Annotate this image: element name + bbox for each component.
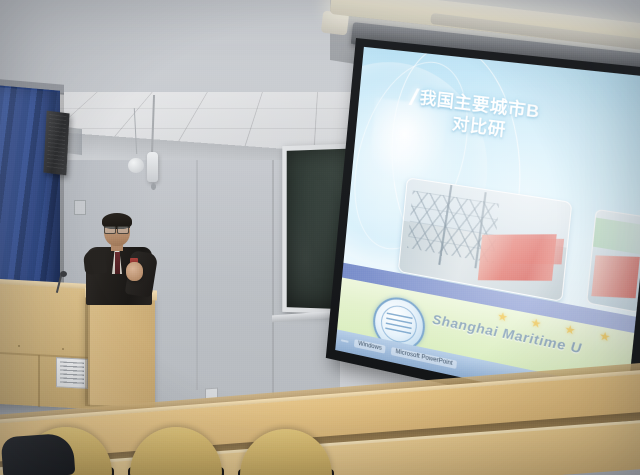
- seal-inner-text-lines: [385, 312, 412, 335]
- pendant-drop: [151, 183, 156, 190]
- backpack[interactable]: [1, 433, 76, 475]
- photo-secondary-bus: [591, 256, 640, 299]
- microphone-icon: [60, 271, 67, 277]
- pendant-globe: [128, 158, 144, 173]
- presenter: [84, 214, 162, 304]
- ceiling-sensor: [147, 152, 158, 182]
- glasses-lens-right: [117, 226, 129, 234]
- taskbar-start-button[interactable]: [341, 340, 349, 344]
- desk-ventilation-grille: [56, 357, 88, 389]
- taskbar-item-windows[interactable]: Windows: [354, 339, 386, 354]
- glasses-lens-left: [104, 226, 116, 234]
- vent-louvers: [60, 361, 84, 384]
- presenter-hand: [126, 262, 143, 281]
- presenter-left-shoulder: [83, 249, 107, 275]
- wall-seam: [272, 140, 274, 395]
- wall-switch-plate[interactable]: [74, 200, 86, 215]
- projected-slide: 我国主要城市B 对比研 ★ ★ ★ ★ ★: [335, 47, 640, 413]
- presenter-necktie: [115, 252, 120, 274]
- photo-greenery: [593, 217, 640, 255]
- lectern: [88, 295, 155, 408]
- loudspeaker-grille: [47, 114, 67, 172]
- slide-content: 我国主要城市B 对比研 ★ ★ ★ ★ ★: [335, 47, 640, 413]
- lectern-left-edge: [85, 292, 90, 406]
- desk-panel-seam: [38, 355, 40, 407]
- wall-seam-secondary: [196, 150, 198, 390]
- classroom-presentation-photo: 我国主要城市B 对比研 ★ ★ ★ ★ ★: [0, 0, 640, 475]
- wall-loudspeaker: [43, 111, 69, 176]
- slide-photo-secondary: [586, 209, 640, 313]
- photo-brt-bus: [478, 234, 558, 281]
